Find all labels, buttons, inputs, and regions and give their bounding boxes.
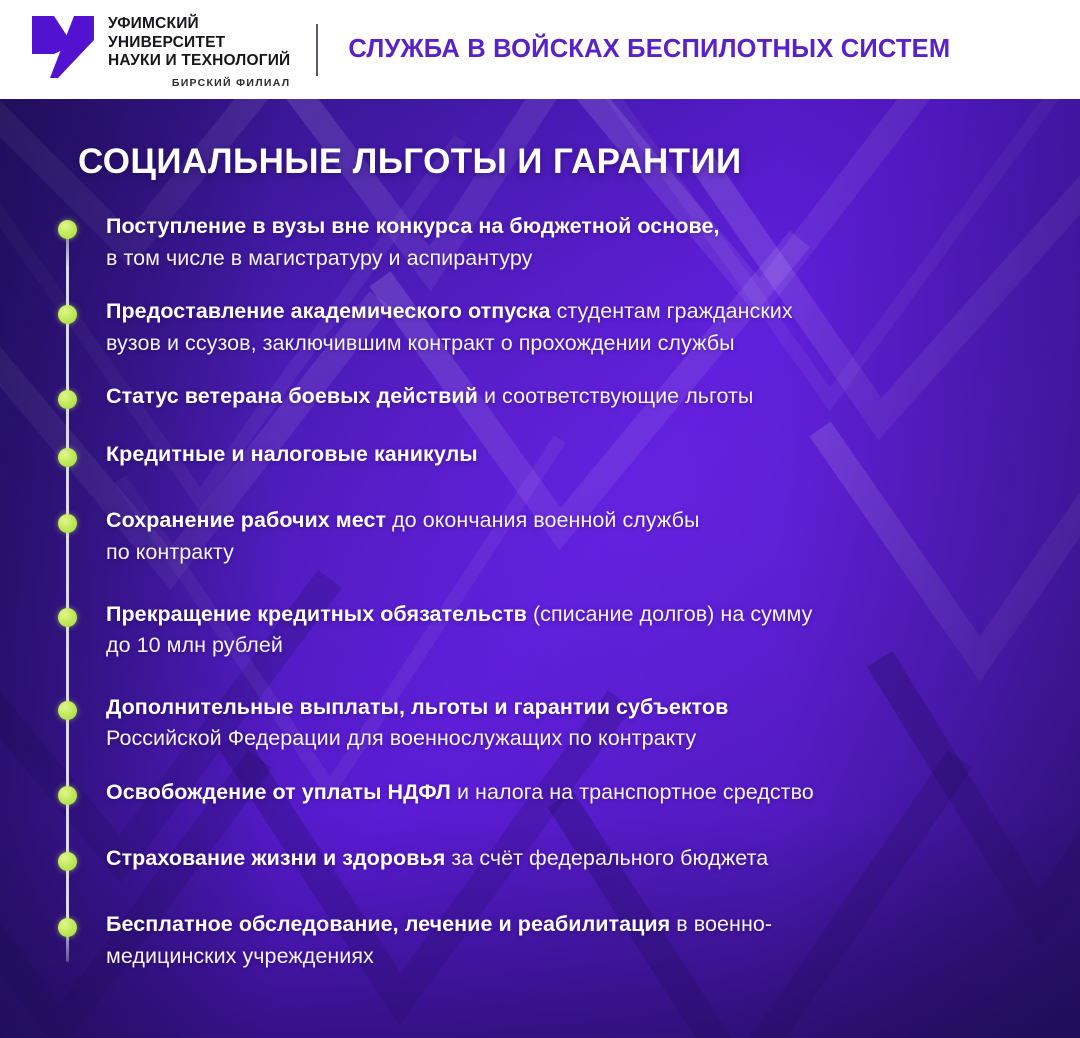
benefit-regular-text: и соответствующие льготы	[478, 384, 753, 408]
benefit-bold-text: Освобождение от уплаты НДФЛ	[106, 780, 451, 804]
benefit-bold-text: Страхование жизни и здоровья	[106, 846, 445, 870]
university-logo: УФИМСКИЙ УНИВЕРСИТЕТ НАУКИ И ТЕХНОЛОГИЙ …	[30, 10, 290, 89]
benefit-bold-text: Кредитные и налоговые каникулы	[106, 442, 478, 466]
benefit-primary-line: Предоставление академического отпуска ст…	[106, 296, 1040, 328]
timeline-dot-icon	[58, 608, 77, 627]
timeline-dot-icon	[58, 390, 77, 409]
timeline-dot-icon	[58, 514, 77, 533]
ufa-university-chevron-logo-icon	[30, 14, 96, 82]
benefit-primary-line: Статус ветерана боевых действий и соотве…	[106, 381, 1040, 413]
benefit-primary-line: Сохранение рабочих мест до окончания вое…	[106, 505, 1040, 537]
benefit-item: Поступление в вузы вне конкурса на бюдже…	[0, 211, 1080, 274]
poster-content: СОЦИАЛЬНЫЕ ЛЬГОТЫ И ГАРАНТИИ Поступление…	[0, 99, 1080, 1038]
benefit-regular-text: и налога на транспортное средство	[451, 780, 814, 804]
benefit-item: Страхование жизни и здоровья за счёт фед…	[0, 843, 1080, 887]
benefit-primary-line: Дополнительные выплаты, льготы и гаранти…	[106, 692, 1040, 724]
benefit-bold-text: Бесплатное обследование, лечение и реаби…	[106, 912, 670, 936]
page-title: СОЦИАЛЬНЫЕ ЛЬГОТЫ И ГАРАНТИИ	[78, 142, 742, 182]
timeline-dot-icon	[58, 852, 77, 871]
timeline-dot-icon	[58, 220, 77, 239]
benefit-item: Дополнительные выплаты, льготы и гаранти…	[0, 692, 1080, 755]
poster-body: СОЦИАЛЬНЫЕ ЛЬГОТЫ И ГАРАНТИИ Поступление…	[0, 99, 1080, 1038]
benefit-regular-text: до окончания военной службы	[386, 508, 699, 532]
benefit-bold-text: Прекращение кредитных обязательств	[106, 602, 527, 626]
benefit-item: Статус ветерана боевых действий и соотве…	[0, 381, 1080, 425]
benefit-item: Предоставление академического отпуска ст…	[0, 296, 1080, 359]
brand-subtitle: БИРСКИЙ ФИЛИАЛ	[108, 77, 290, 89]
brand-line-2: УНИВЕРСИТЕТ	[108, 34, 290, 53]
benefit-item: Прекращение кредитных обязательств (спис…	[0, 599, 1080, 662]
benefit-bold-text: Поступление в вузы вне конкурса на бюдже…	[106, 214, 720, 238]
benefit-secondary-line: медицинских учреждениях	[106, 941, 1040, 973]
timeline-dot-icon	[58, 305, 77, 324]
benefit-secondary-line: Российской Федерации для военнослужащих …	[106, 723, 1040, 755]
benefit-primary-line: Кредитные и налоговые каникулы	[106, 439, 1040, 471]
benefit-regular-text: студентам гражданских	[551, 299, 793, 323]
brand-line-1: УФИМСКИЙ	[108, 15, 290, 34]
benefit-primary-line: Освобождение от уплаты НДФЛ и налога на …	[106, 777, 1040, 809]
timeline-dot-icon	[58, 918, 77, 937]
benefit-item: Кредитные и налоговые каникулы	[0, 439, 1080, 483]
benefit-bold-text: Статус ветерана боевых действий	[106, 384, 478, 408]
benefit-primary-line: Бесплатное обследование, лечение и реаби…	[106, 909, 1040, 941]
benefit-primary-line: Прекращение кредитных обязательств (спис…	[106, 599, 1040, 631]
page-header: УФИМСКИЙ УНИВЕРСИТЕТ НАУКИ И ТЕХНОЛОГИЙ …	[0, 0, 1080, 99]
benefit-secondary-line: в том числе в магистратуру и аспирантуру	[106, 243, 1040, 275]
benefit-item: Сохранение рабочих мест до окончания вое…	[0, 505, 1080, 568]
timeline-dot-icon	[58, 786, 77, 805]
brand-line-3: НАУКИ И ТЕХНОЛОГИЙ	[108, 52, 290, 71]
university-logo-text: УФИМСКИЙ УНИВЕРСИТЕТ НАУКИ И ТЕХНОЛОГИЙ …	[108, 10, 290, 89]
benefit-secondary-line: до 10 млн рублей	[106, 630, 1040, 662]
header-divider	[316, 24, 318, 76]
benefit-primary-line: Страхование жизни и здоровья за счёт фед…	[106, 843, 1040, 875]
benefit-primary-line: Поступление в вузы вне конкурса на бюдже…	[106, 211, 1040, 243]
benefit-regular-text: (списание долгов) на сумму	[527, 602, 812, 626]
poster: УФИМСКИЙ УНИВЕРСИТЕТ НАУКИ И ТЕХНОЛОГИЙ …	[0, 0, 1080, 1038]
benefit-secondary-line: вузов и ссузов, заключившим контракт о п…	[106, 328, 1040, 360]
benefit-item: Освобождение от уплаты НДФЛ и налога на …	[0, 777, 1080, 821]
timeline-dot-icon	[58, 701, 77, 720]
benefit-bold-text: Сохранение рабочих мест	[106, 508, 386, 532]
timeline-dot-icon	[58, 448, 77, 467]
benefit-item: Бесплатное обследование, лечение и реаби…	[0, 909, 1080, 972]
benefit-bold-text: Предоставление академического отпуска	[106, 299, 551, 323]
benefits-timeline: Поступление в вузы вне конкурса на бюдже…	[0, 211, 1080, 972]
benefit-secondary-line: по контракту	[106, 537, 1040, 569]
header-title: СЛУЖБА В ВОЙСКАХ БЕСПИЛОТНЫХ СИСТЕМ	[348, 35, 950, 64]
benefit-bold-text: Дополнительные выплаты, льготы и гаранти…	[106, 695, 728, 719]
benefit-regular-text: за счёт федерального бюджета	[445, 846, 768, 870]
benefit-regular-text: в военно-	[670, 912, 772, 936]
